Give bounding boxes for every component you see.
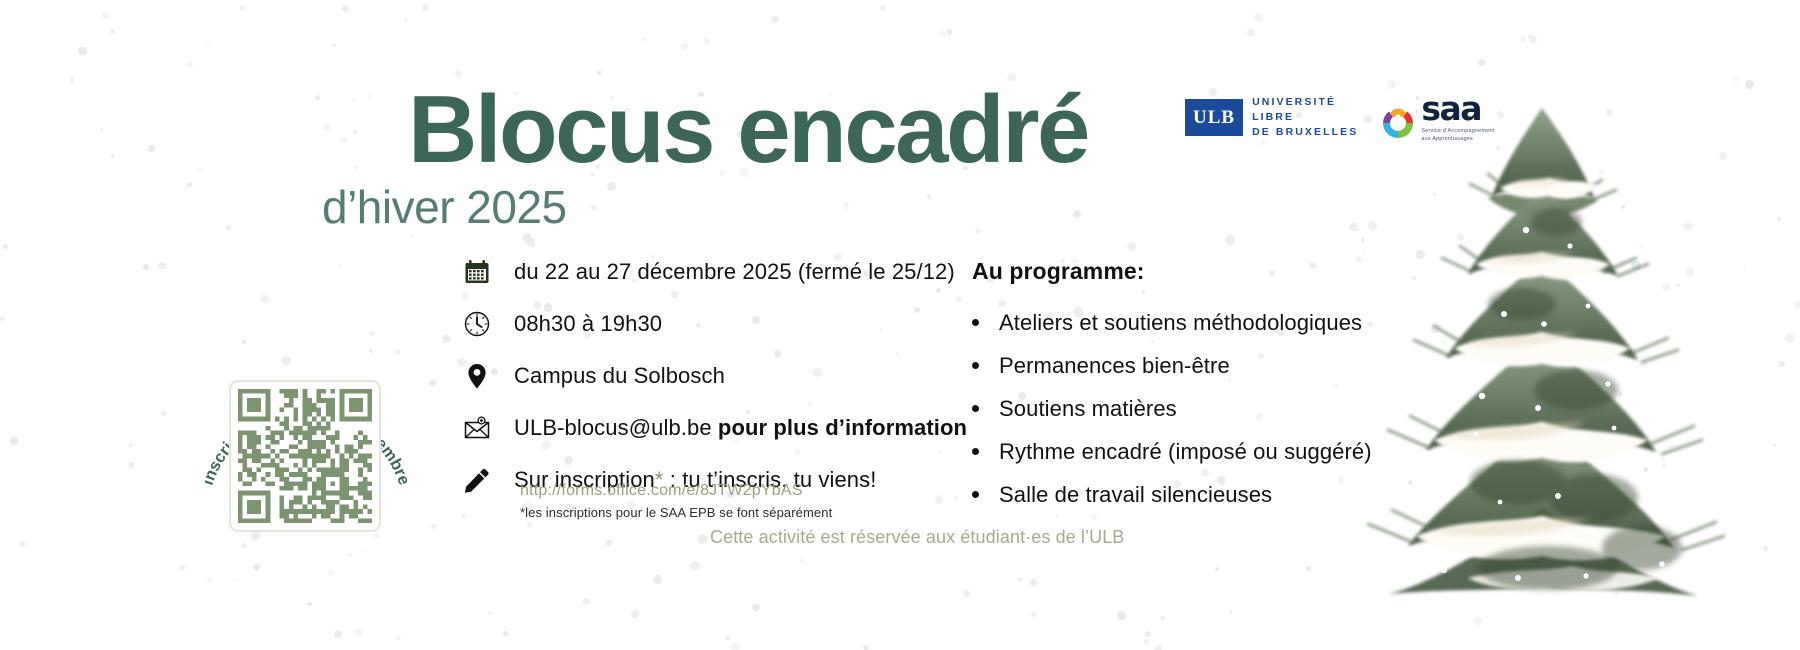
snow-dot [129, 462, 134, 467]
snow-dot [843, 202, 849, 208]
bullet-icon [972, 362, 979, 369]
snow-dot [323, 123, 331, 131]
snow-dot [527, 522, 533, 528]
snow-dot [158, 262, 165, 269]
snow-dot [431, 524, 436, 529]
snowy-pine-tree-illustration [1342, 78, 1742, 608]
snow-dot [940, 31, 945, 36]
snow-dot [963, 590, 970, 597]
snow-dot [0, 317, 5, 322]
snow-dot [1528, 34, 1533, 39]
snow-dot [1779, 361, 1785, 367]
snow-dot [938, 451, 942, 455]
snow-dot [1745, 80, 1754, 89]
snow-dot [1031, 611, 1037, 617]
snow-dot [315, 95, 320, 100]
ulb-line-1: UNIVERSITÉ [1252, 95, 1358, 110]
info-hours-text: 08h30 à 19h30 [514, 311, 662, 337]
info-row-dates: du 22 au 27 décembre 2025 (fermé le 25/1… [462, 252, 932, 292]
snow-dot [954, 496, 958, 500]
snow-dot [1160, 616, 1165, 621]
snow-dot [187, 182, 192, 187]
snow-dot [880, 5, 885, 10]
pencil-icon [462, 465, 492, 495]
snow-dot [3, 244, 8, 249]
snow-dot [731, 642, 740, 650]
location-pin-icon [462, 361, 492, 391]
snow-dot [631, 610, 639, 618]
registration-qr-code[interactable] [238, 389, 372, 523]
ulb-line-2: LIBRE [1252, 110, 1358, 125]
poster-canvas: ULB UNIVERSITÉ LIBRE DE BRUXELLES saa Se… [0, 0, 1800, 650]
snow-dot [597, 70, 602, 75]
snow-dot [10, 437, 18, 445]
snow-dot [1785, 333, 1794, 342]
snow-dot [207, 578, 212, 583]
snow-dot [19, 541, 25, 547]
saa-logo: saa Service d’Accompagnement aux Apprent… [1380, 92, 1494, 143]
programme-item: Ateliers et soutiens méthodologiques [972, 310, 1392, 336]
snow-dot [236, 579, 239, 582]
snow-dot [361, 548, 365, 552]
snow-dot [148, 145, 155, 152]
snow-dot [1127, 242, 1136, 251]
snow-dot [800, 559, 803, 562]
programme-item-label: Salle de travail silencieuses [999, 482, 1272, 508]
snow-dot [340, 137, 346, 143]
logo-row: ULB UNIVERSITÉ LIBRE DE BRUXELLES saa Se… [1185, 92, 1495, 143]
snow-dot [143, 264, 149, 270]
snow-dot [1520, 36, 1526, 42]
programme-item: Salle de travail silencieuses [972, 482, 1392, 508]
info-email-suffix: pour plus d’information [718, 415, 967, 440]
snow-dot [111, 154, 115, 158]
snow-dot [523, 233, 532, 242]
snow-dot [411, 235, 414, 238]
snow-dot [429, 380, 435, 386]
snow-dot [260, 295, 269, 304]
snow-dot [328, 570, 334, 576]
ulb-logo-wordmark: UNIVERSITÉ LIBRE DE BRUXELLES [1252, 95, 1358, 140]
bullet-icon [972, 491, 979, 498]
registration-footnote: *les inscriptions pour le SAA EPB se fon… [520, 505, 832, 520]
snow-dot [1763, 546, 1767, 550]
programme-title: Au programme: [972, 258, 1392, 285]
snow-dot [1743, 265, 1747, 269]
snow-dot [404, 18, 407, 21]
snow-dot [353, 130, 357, 134]
snow-dot [1247, 29, 1254, 36]
snow-dot [442, 335, 451, 344]
snow-dot [605, 539, 612, 546]
snow-dot [332, 43, 337, 48]
snow-dot [642, 38, 645, 41]
snow-dot [690, 561, 699, 570]
snow-dot [1073, 210, 1081, 218]
saa-swoosh-icon [1380, 107, 1416, 143]
snow-dot [355, 629, 362, 636]
event-info-list: du 22 au 27 décembre 2025 (fermé le 25/1… [462, 252, 932, 512]
programme-item: Rythme encadré (imposé ou suggéré) [972, 439, 1392, 465]
snow-dot [367, 95, 372, 100]
snow-dot [396, 635, 401, 640]
info-email-address: ULB-blocus@ulb.be [514, 415, 718, 440]
snow-dot [591, 205, 595, 209]
programme-item-label: Rythme encadré (imposé ou suggéré) [999, 439, 1372, 465]
info-row-hours: 08h30 à 19h30 [462, 304, 932, 344]
bullet-icon [972, 448, 979, 455]
snow-dot [100, 128, 103, 131]
snow-dot [226, 225, 231, 230]
snow-dot [253, 564, 260, 571]
programme-item: Soutiens matières [972, 396, 1392, 422]
programme-item-label: Soutiens matières [999, 396, 1177, 422]
snow-dot [698, 534, 707, 543]
snow-dot [180, 565, 184, 569]
saa-tagline-line-2: aux Apprentissages [1421, 135, 1494, 143]
snow-dot [681, 43, 688, 50]
programme-section: Au programme: Ateliers et soutiens métho… [972, 258, 1392, 525]
saa-tagline: Service d’Accompagnement aux Apprentissa… [1421, 127, 1494, 143]
info-email-text: ULB-blocus@ulb.be pour plus d’informatio… [514, 415, 967, 441]
snow-dot [129, 443, 133, 447]
snow-dot [1306, 566, 1311, 571]
snow-dot [1230, 611, 1233, 614]
snow-dot [1478, 59, 1486, 67]
snow-dot [927, 194, 931, 198]
snow-dot [1215, 567, 1219, 571]
snow-dot [1144, 639, 1149, 644]
snow-dot [1155, 645, 1163, 650]
envelope-icon [462, 413, 492, 443]
saa-wordmark: saa [1421, 92, 1494, 125]
ulb-logo-mark: ULB [1185, 99, 1243, 136]
snow-dot [527, 238, 536, 247]
snow-dot [1474, 617, 1482, 625]
snow-dot [703, 38, 710, 45]
saa-tagline-line-1: Service d’Accompagnement [1421, 127, 1494, 135]
snow-dot [110, 29, 115, 34]
snow-dot [1794, 301, 1800, 309]
snow-dot [1254, 13, 1263, 22]
snow-dot [1226, 235, 1235, 244]
qr-code-card[interactable] [229, 380, 381, 532]
snow-dot [725, 636, 730, 641]
snow-dot [462, 514, 465, 517]
ulb-line-3: DE BRUXELLES [1252, 125, 1358, 140]
snow-dot [1773, 443, 1777, 447]
snow-dot [947, 29, 952, 34]
snow-dot [422, 4, 429, 11]
poster-title: Blocus encadré [408, 82, 1088, 178]
snow-dot [70, 77, 76, 83]
snow-dot [771, 16, 778, 23]
snow-dot [1117, 611, 1126, 620]
snow-dot [653, 575, 661, 583]
ulb-logo: ULB UNIVERSITÉ LIBRE DE BRUXELLES [1185, 95, 1358, 140]
snow-dot [975, 229, 980, 234]
snow-dot [607, 182, 616, 191]
info-location-text: Campus du Solbosch [514, 363, 725, 389]
bullet-icon [972, 405, 979, 412]
snow-dot [936, 288, 941, 293]
snow-dot [1529, 36, 1538, 45]
programme-item-label: Ateliers et soutiens méthodologiques [999, 310, 1362, 336]
bullet-icon [972, 319, 979, 326]
calendar-icon [462, 257, 492, 287]
snow-dot [199, 168, 202, 171]
snow-dot [1777, 217, 1781, 221]
info-row-location: Campus du Solbosch [462, 356, 932, 396]
snow-dot [934, 495, 943, 504]
snow-dot [334, 630, 342, 638]
snow-dot [339, 264, 342, 267]
reserved-audience-note: Cette activité est réservée aux étudiant… [710, 527, 1124, 548]
poster-subtitle: d’hiver 2025 [322, 184, 567, 230]
programme-item: Permanences bien-être [972, 353, 1392, 379]
snow-dot [488, 611, 492, 615]
snow-dot [1018, 578, 1021, 581]
snow-dot [956, 296, 962, 302]
snow-dot [342, 5, 349, 12]
snow-dot [1145, 631, 1151, 637]
qr-code-block[interactable]: inscris-toi avant le 14 décembre [205, 340, 420, 545]
snow-dot [78, 47, 86, 55]
snow-dot [583, 598, 589, 604]
snow-dot [503, 631, 508, 636]
info-dates-text: du 22 au 27 décembre 2025 (fermé le 25/1… [514, 259, 955, 285]
snow-dot [863, 645, 869, 650]
snow-dot [370, 331, 375, 336]
snow-dot [102, 12, 109, 19]
snow-dot [752, 604, 760, 612]
snow-dot [161, 411, 166, 416]
snow-dot [307, 602, 311, 606]
snow-dot [207, 42, 210, 45]
snow-dot [240, 6, 245, 11]
programme-item-label: Permanences bien-être [999, 353, 1230, 379]
snow-dot [353, 98, 356, 101]
clock-icon [462, 309, 492, 339]
snow-dot [1030, 579, 1037, 586]
snow-dot [355, 166, 358, 169]
registration-form-link[interactable]: http://forms.office.com/e/8JTW2pYbAS [520, 482, 803, 500]
snow-dot [188, 62, 194, 68]
info-row-email: ULB-blocus@ulb.be pour plus d’informatio… [462, 408, 932, 448]
snow-dot [348, 553, 353, 558]
